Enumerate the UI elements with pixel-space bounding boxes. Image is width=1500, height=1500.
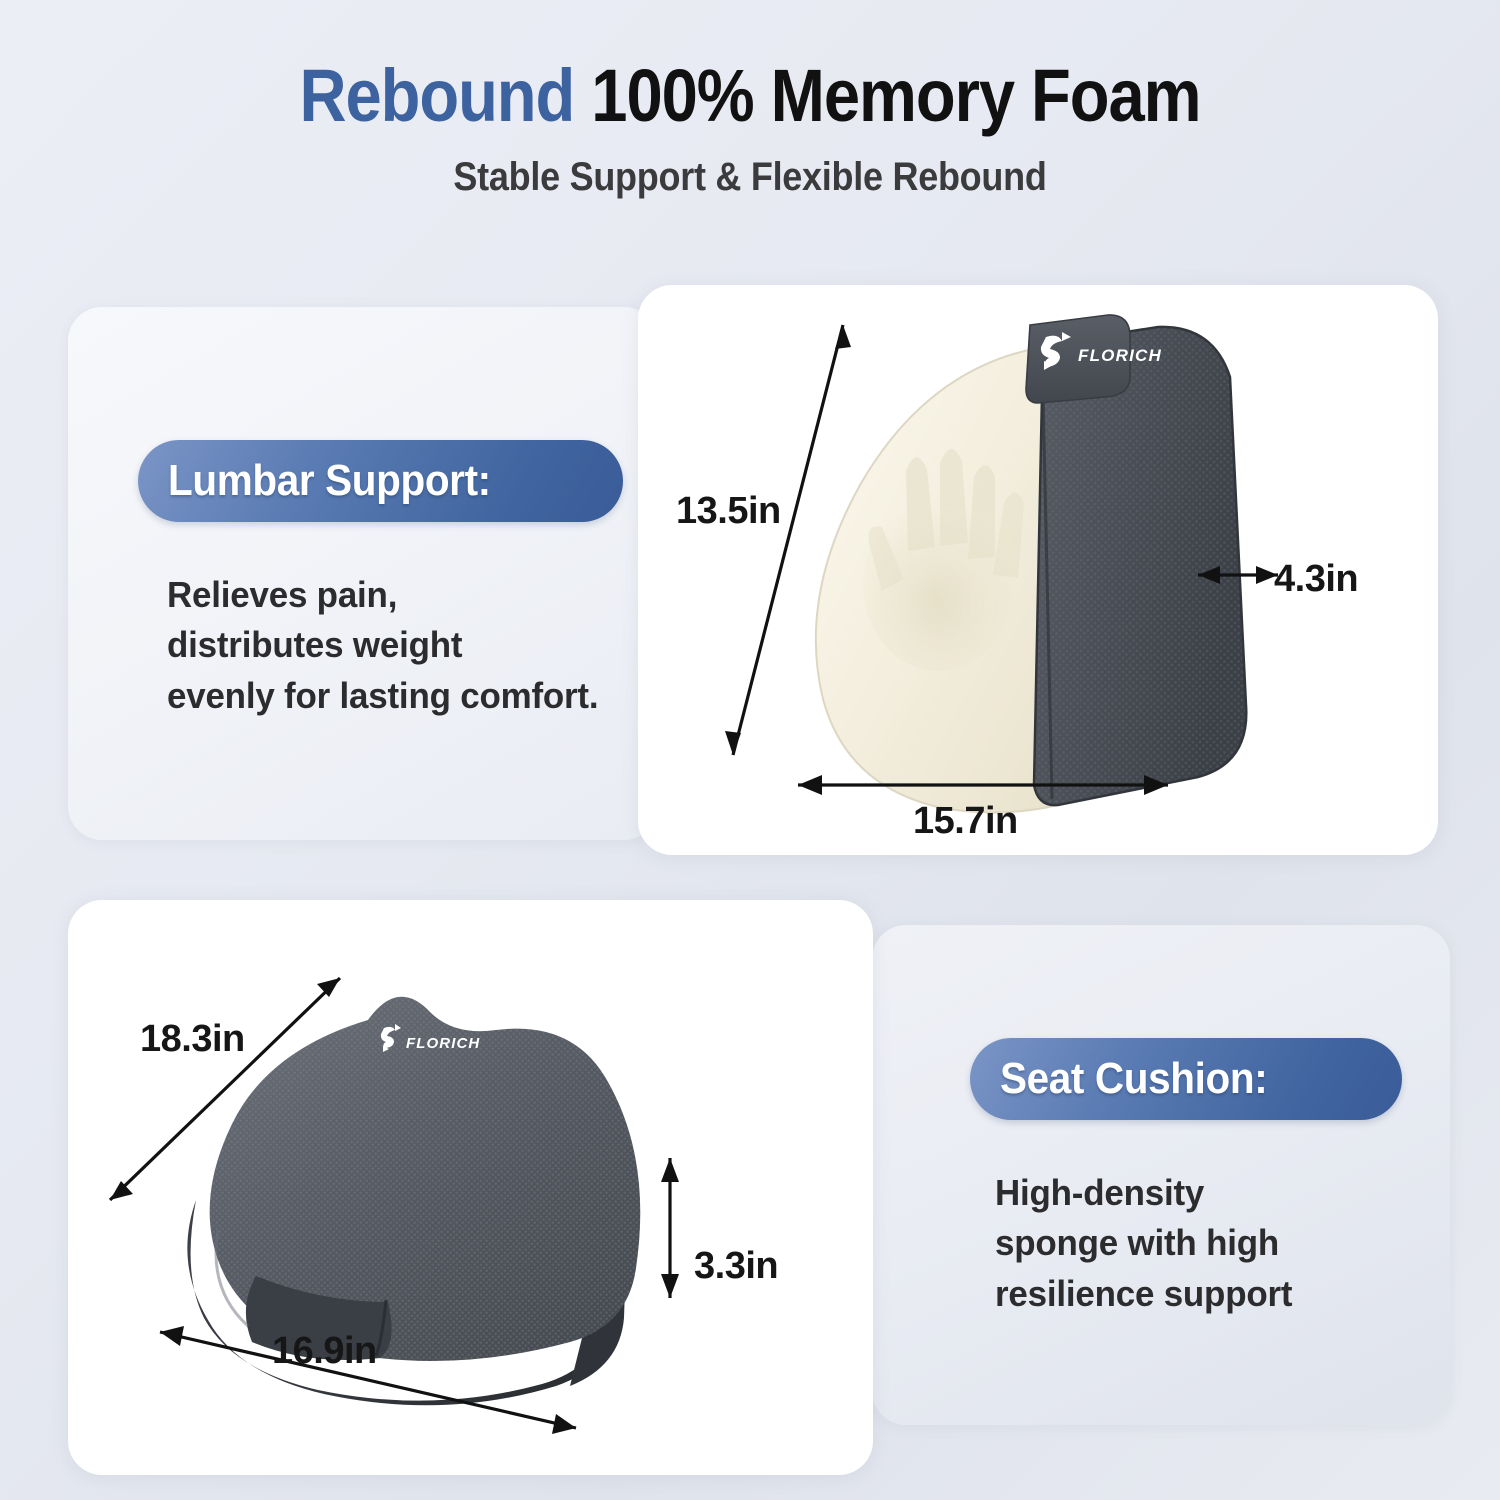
seat-description-line-1: High-density <box>995 1168 1402 1218</box>
seat-image-card: FLORICH <box>68 900 873 1475</box>
infographic-canvas: Rebound 100% Memory Foam Stable Support … <box>0 0 1500 1500</box>
dimension-label-lumbar-width: 15.7in <box>913 800 1018 843</box>
lumbar-description-line-3: evenly for lasting comfort. <box>167 671 623 721</box>
seat-description-line-2: sponge with high <box>995 1218 1402 1268</box>
brand-logo-text: FLORICH <box>406 1035 480 1052</box>
lumbar-description: Relieves pain, distributes weight evenly… <box>167 570 637 721</box>
title-rest: 100% Memory Foam <box>574 54 1200 137</box>
title-highlight: Rebound <box>299 54 574 137</box>
lumbar-description-line-2: distributes weight <box>167 620 623 670</box>
lumbar-description-line-1: Relieves pain, <box>167 570 623 620</box>
brand-tag-text: FLORICH <box>1078 346 1162 365</box>
badge-seat-cushion[interactable]: Seat Cushion: <box>970 1038 1402 1120</box>
badge-seat-label: Seat Cushion: <box>1000 1054 1267 1104</box>
header: Rebound 100% Memory Foam Stable Support … <box>0 0 1500 200</box>
badge-lumbar-label: Lumbar Support: <box>168 456 491 506</box>
seat-cushion-illustration: FLORICH <box>68 900 873 1475</box>
seat-description-line-3: resilience support <box>995 1269 1402 1319</box>
dimension-label-lumbar-height: 13.5in <box>676 490 781 533</box>
page-title: Rebound 100% Memory Foam <box>90 0 1410 133</box>
seat-description: High-density sponge with high resilience… <box>995 1168 1415 1319</box>
dimension-label-seat-width: 16.9in <box>272 1330 377 1373</box>
dimension-label-seat-depth: 18.3in <box>140 1018 245 1061</box>
dimension-label-lumbar-thickness: 4.3in <box>1274 558 1358 601</box>
badge-lumbar-support[interactable]: Lumbar Support: <box>138 440 623 522</box>
dimension-label-seat-height: 3.3in <box>694 1245 778 1288</box>
page-subtitle: Stable Support & Flexible Rebound <box>75 133 1425 200</box>
